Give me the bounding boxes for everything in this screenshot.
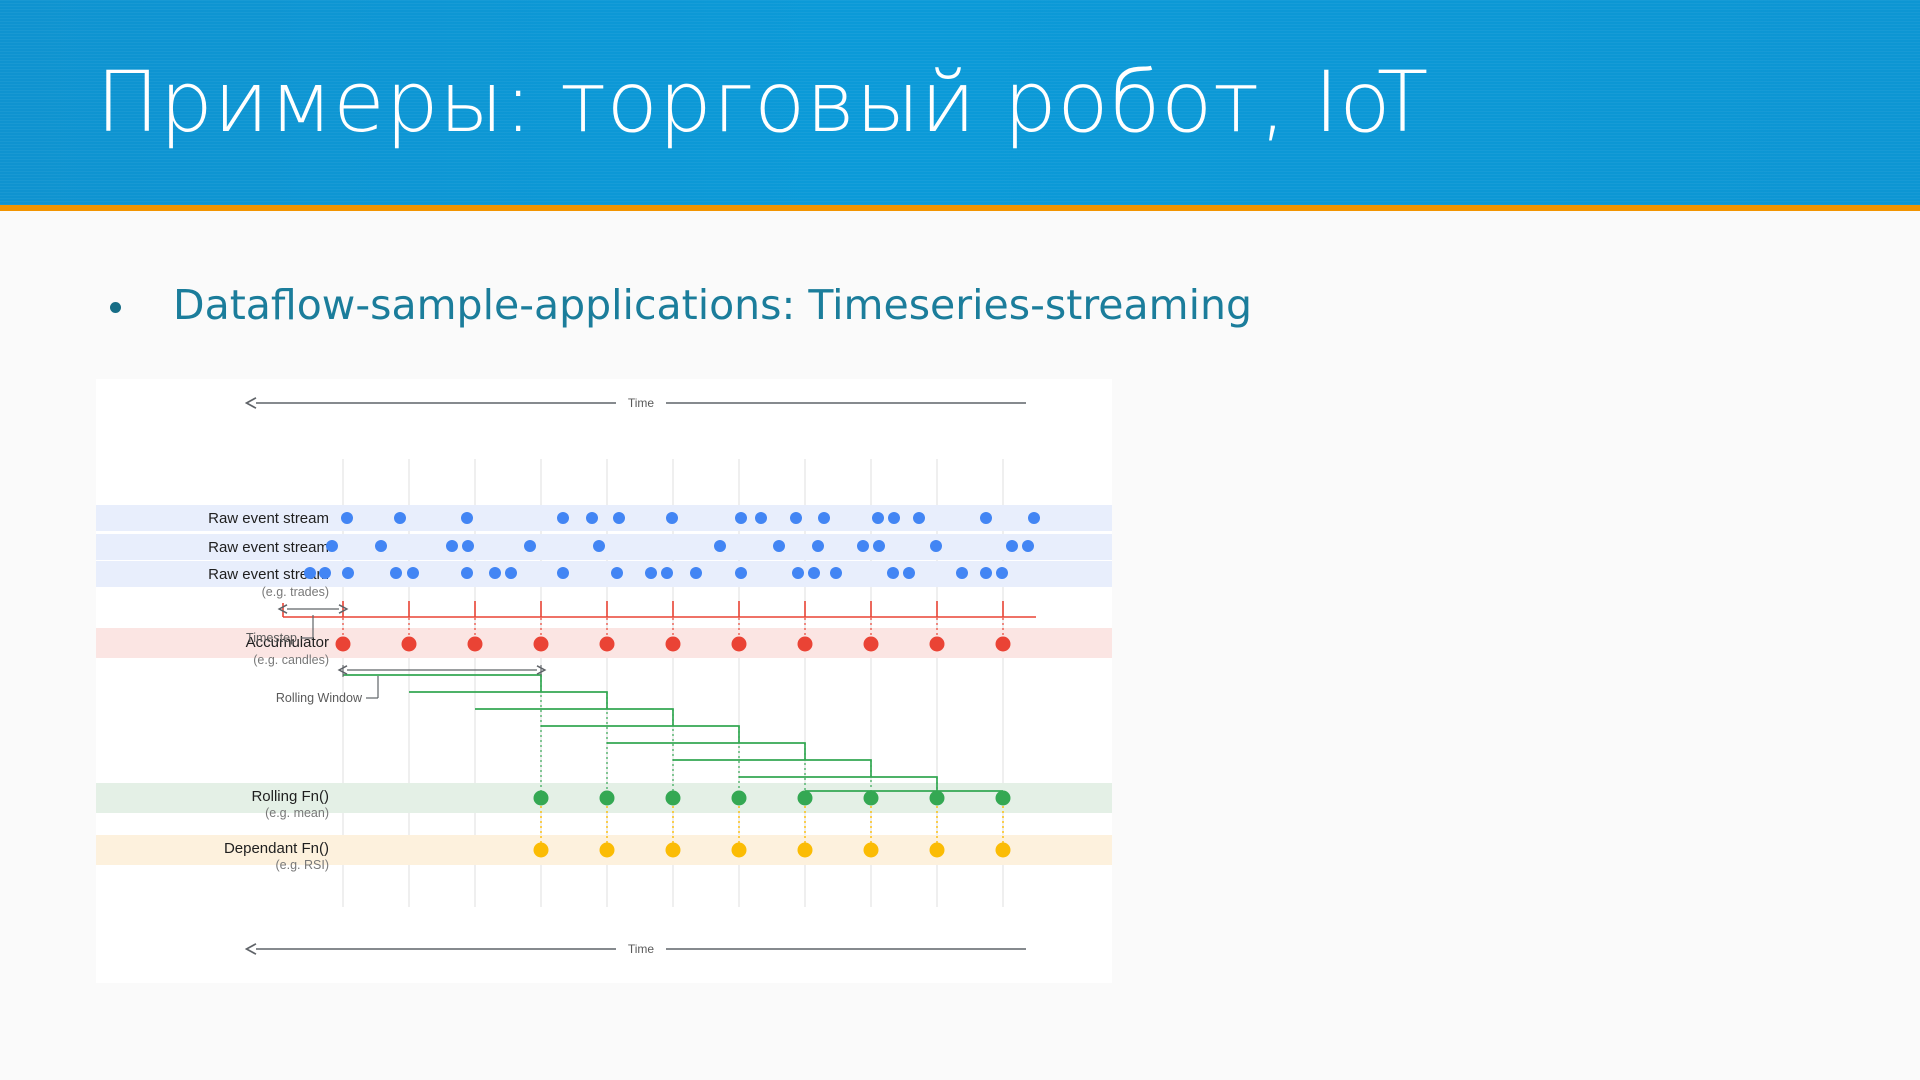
slide: Примеры: торговый робот, IoT Dataflow-sa… [0,0,1920,1080]
lane-sublabel-raw3: (e.g. trades) [262,585,329,599]
lane-sublabel-dependant-fn: (e.g. RSI) [276,858,330,872]
lane-label-raw1: Raw event stream [208,510,329,527]
lane-sublabel-accumulator: (e.g. candles) [253,653,329,667]
bottom-time-axis-label: Time [628,942,655,956]
bullet-dot-icon [110,302,121,313]
lane-label-rolling-fn: Rolling Fn() [251,788,329,805]
lane-sublabel-rolling-fn: (e.g. mean) [265,806,329,820]
page-title: Примеры: торговый робот, IoT [96,52,1796,152]
lane-label-raw2: Raw event stream [208,539,329,556]
slide-content: Dataflow-sample-applications: Timeseries… [0,211,1920,1080]
rolling-window-label: Rolling Window [276,691,363,705]
lane-label-dependant-fn: Dependant Fn() [224,840,329,857]
bullet-list-item: Dataflow-sample-applications: Timeseries… [110,279,1252,331]
bullet-item-label: Dataflow-sample-applications: Timeseries… [173,279,1252,331]
top-time-axis-label: Time [628,396,655,410]
timeseries-streaming-figure: Time [96,379,1112,983]
timestep-label: Timestep [246,631,297,645]
